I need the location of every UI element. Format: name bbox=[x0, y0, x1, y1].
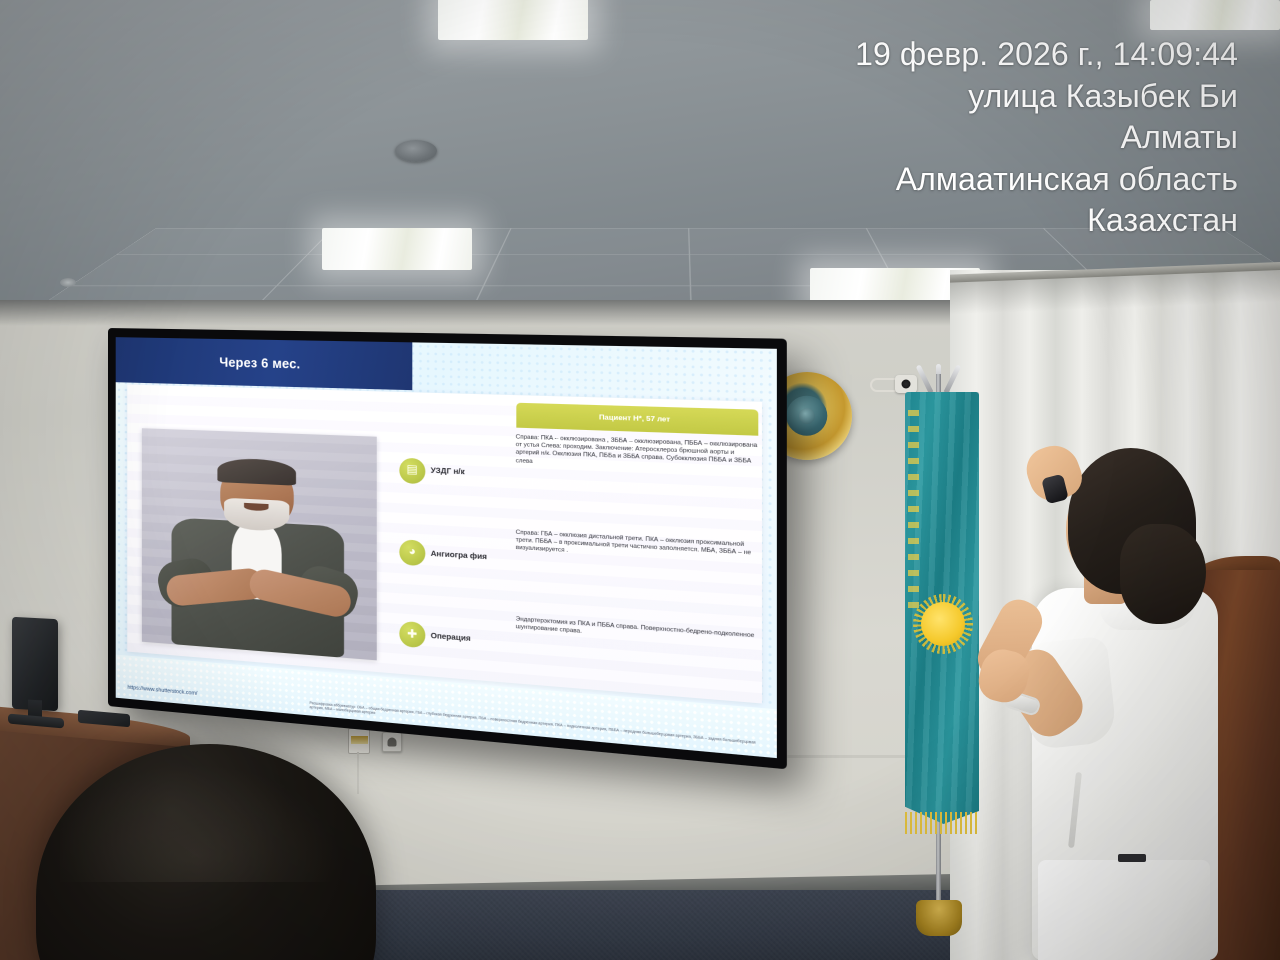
wall-outlet-icon bbox=[382, 732, 402, 752]
presenter-person bbox=[980, 440, 1280, 960]
icon-label-angiography: Ангиогра фия bbox=[431, 549, 487, 561]
slide-text-column: Пациент Н*, 57 лет Справа: ПКА – окклюзи… bbox=[516, 403, 758, 704]
presenter-brand-tag bbox=[1118, 854, 1146, 862]
text-block-operation: Эндартерэктомия из ПКА и ПББА справа. По… bbox=[516, 616, 758, 649]
smoke-detector-icon bbox=[60, 278, 76, 287]
tv-display[interactable]: Через 6 мес. bbox=[116, 337, 777, 758]
icon-label-operation: Операция bbox=[431, 632, 471, 644]
ultrasound-icon: ▤ bbox=[399, 457, 425, 484]
presenter-trousers bbox=[1038, 860, 1210, 960]
slide-icon-row-uzdg: ▤ УЗДГ н/к bbox=[399, 441, 512, 504]
slide-icon-column: ▤ УЗДГ н/к ◕ Ангиогра фия ✚ bbox=[399, 441, 512, 671]
angiography-icon: ◕ bbox=[399, 539, 425, 566]
photo-man-figure bbox=[162, 455, 354, 659]
overlay-datetime: 19 февр. 2026 г., 14:09:44 bbox=[855, 34, 1238, 76]
wall-mounted-tv[interactable]: Через 6 мес. bbox=[108, 328, 787, 769]
text-block-uzdg: Справа: ПКА – окклюзирована , ЗББА – окк… bbox=[516, 434, 758, 476]
kazakhstan-flag bbox=[905, 392, 979, 824]
slide-icon-row-operation: ✚ Операция bbox=[399, 605, 512, 672]
patient-stock-photo bbox=[142, 428, 376, 661]
angiography-glyph: ◕ bbox=[409, 547, 416, 559]
desktop-monitor[interactable] bbox=[12, 617, 58, 711]
patient-header-text: Пациент Н*, 57 лет bbox=[599, 414, 670, 424]
slide-title-banner: Через 6 мес. bbox=[116, 337, 413, 390]
photo-hair bbox=[217, 457, 296, 485]
overlay-street: улица Казыбек Би bbox=[855, 76, 1238, 118]
flag-sun-icon bbox=[921, 602, 965, 646]
slide-icon-row-angiography: ◕ Ангиогра фия bbox=[399, 523, 512, 588]
ultrasound-glyph: ▤ bbox=[406, 465, 417, 477]
wall-panel-box bbox=[348, 728, 370, 754]
operation-icon: ✚ bbox=[399, 621, 425, 648]
patient-header-badge: Пациент Н*, 57 лет bbox=[516, 403, 758, 436]
flag-fringe bbox=[905, 812, 979, 834]
overlay-region: Алмаатинская область bbox=[855, 159, 1238, 201]
overlay-city: Алматы bbox=[855, 117, 1238, 159]
icon-label-uzdg: УЗДГ н/к bbox=[431, 467, 465, 478]
fluorescent-light bbox=[438, 0, 588, 40]
presentation-slide: Через 6 мес. bbox=[116, 337, 777, 758]
camera-cable bbox=[870, 378, 898, 392]
security-camera-icon bbox=[895, 375, 917, 393]
wall-cable bbox=[357, 752, 359, 794]
flag-stand-base bbox=[916, 900, 962, 936]
audience-member-hair-highlight bbox=[60, 752, 360, 882]
flag-ornament bbox=[908, 410, 919, 610]
photograph-scene: Через 6 мес. bbox=[0, 0, 1280, 960]
timestamp-geotag-overlay: 19 февр. 2026 г., 14:09:44 улица Казыбек… bbox=[855, 34, 1238, 242]
fluorescent-light bbox=[322, 228, 472, 270]
ceiling-vent-icon bbox=[395, 140, 437, 162]
slide-title: Через 6 мес. bbox=[219, 355, 300, 371]
overlay-country: Казахстан bbox=[855, 200, 1238, 242]
fluorescent-light bbox=[1150, 0, 1280, 30]
operation-glyph: ✚ bbox=[407, 629, 417, 641]
text-block-angiography: Справа: ГБА – окклюзия дистальной трети.… bbox=[516, 529, 758, 567]
